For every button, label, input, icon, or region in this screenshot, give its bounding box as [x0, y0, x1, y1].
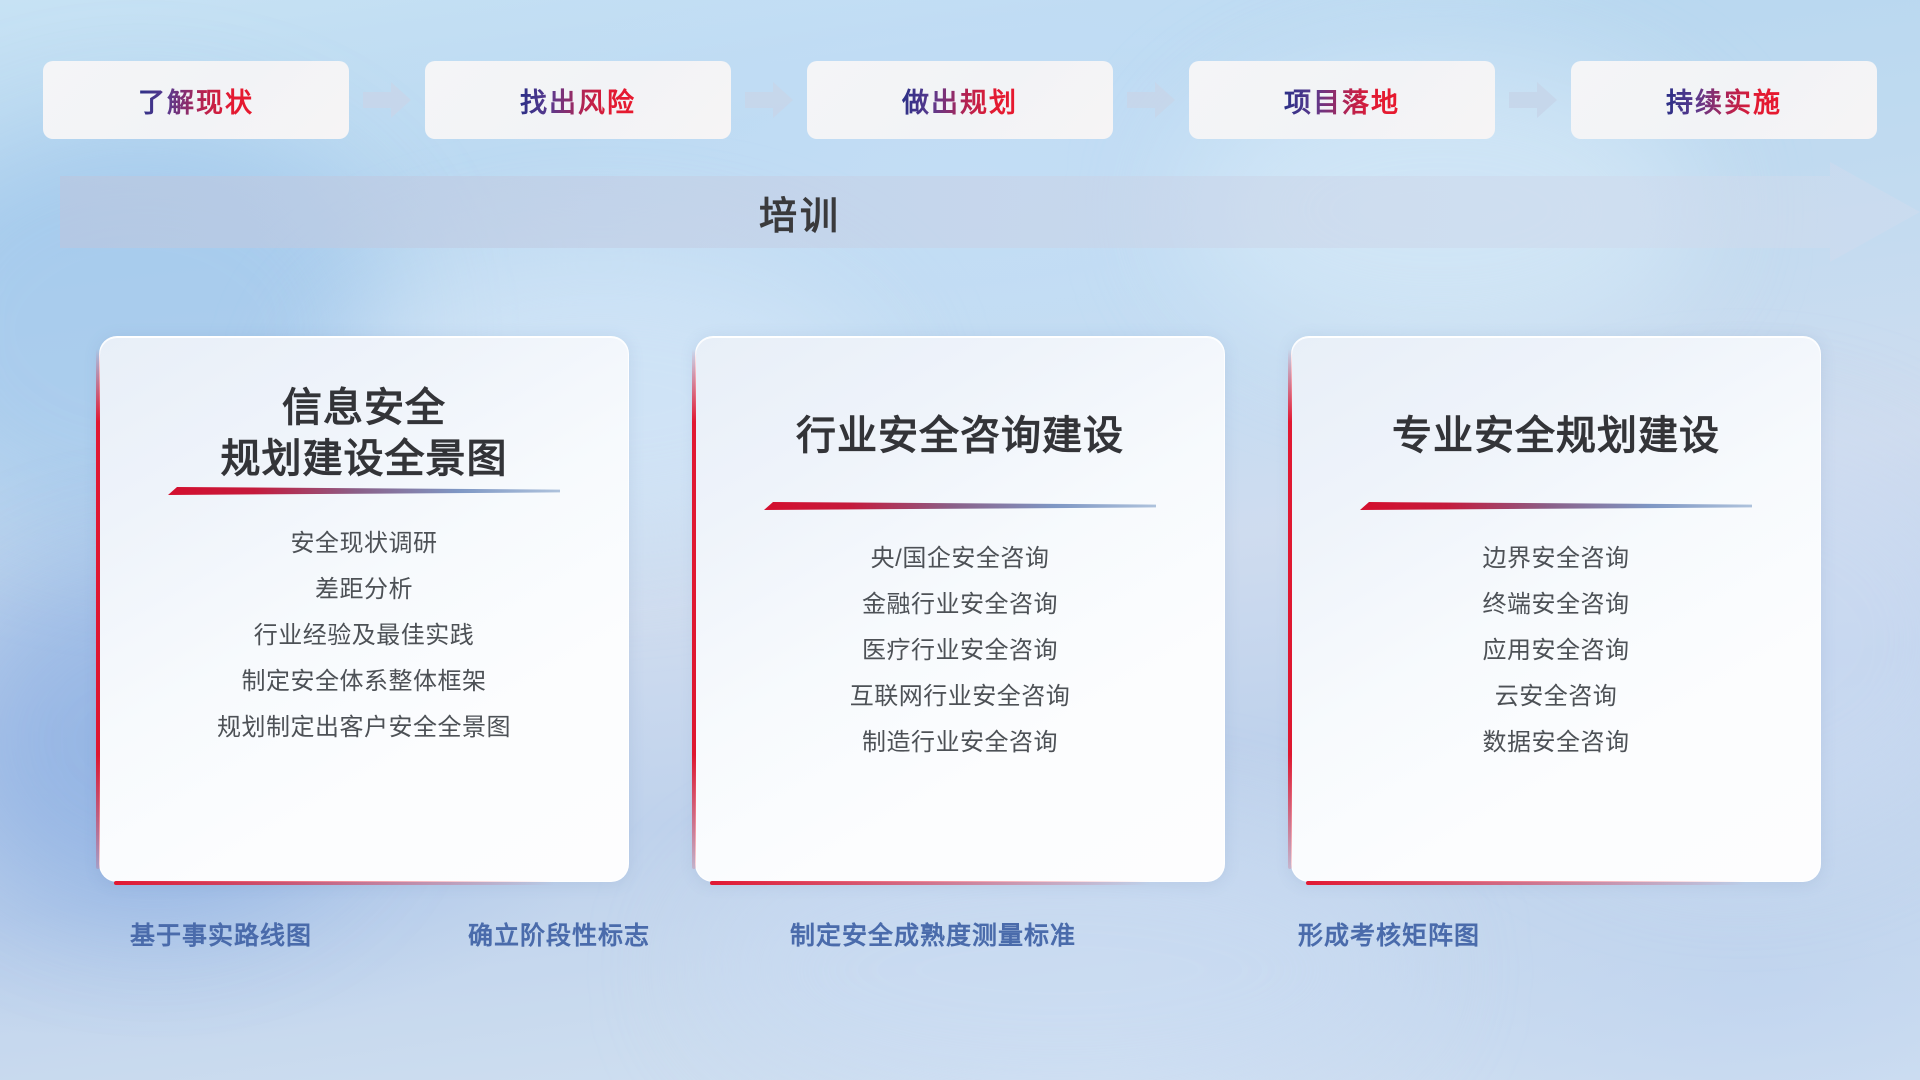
process-step-label: 找出风险	[520, 81, 636, 120]
list-item: 央/国企安全咨询	[696, 536, 1224, 582]
footer-label: 形成考核矩阵图	[1298, 916, 1480, 952]
training-banner: 培训	[60, 162, 1920, 262]
list-item: 云安全咨询	[1292, 674, 1820, 720]
process-step-row: 了解现状 找出风险 做出规划 项目落地	[0, 60, 1920, 140]
process-step-label: 持续实施	[1666, 81, 1782, 120]
process-step-4[interactable]: 项目落地	[1189, 61, 1495, 139]
card-industry-security-consulting[interactable]: 行业安全咨询建设 央/国企安全咨询	[695, 336, 1225, 882]
list-item: 安全现状调研	[100, 521, 628, 567]
footer-label: 基于事实路线图	[130, 916, 312, 952]
card-item-list: 安全现状调研 差距分析 行业经验及最佳实践 制定安全体系整体框架 规划制定出客户…	[100, 521, 628, 751]
card-title: 专业安全规划建设	[1292, 383, 1820, 462]
list-item: 差距分析	[100, 567, 628, 613]
card-title: 行业安全咨询建设	[696, 383, 1224, 462]
list-item: 数据安全咨询	[1292, 720, 1820, 766]
tapered-divider-icon	[1360, 500, 1752, 514]
card-information-security-blueprint[interactable]: 信息安全 规划建设全景图 安全现状调研	[99, 336, 629, 882]
arrow-right-icon	[743, 78, 795, 122]
arrow-right-icon	[361, 78, 413, 122]
list-item: 互联网行业安全咨询	[696, 674, 1224, 720]
tapered-divider-icon	[168, 485, 560, 499]
slide-canvas: 了解现状 找出风险 做出规划 项目落地	[0, 0, 1920, 1080]
list-item: 医疗行业安全咨询	[696, 628, 1224, 674]
process-step-1[interactable]: 了解现状	[43, 61, 349, 139]
list-item: 规划制定出客户安全全景图	[100, 705, 628, 751]
process-step-5[interactable]: 持续实施	[1571, 61, 1877, 139]
list-item: 金融行业安全咨询	[696, 582, 1224, 628]
card-item-list: 央/国企安全咨询 金融行业安全咨询 医疗行业安全咨询 互联网行业安全咨询 制造行…	[696, 536, 1224, 766]
tapered-divider-icon	[764, 500, 1156, 514]
card-professional-security-planning[interactable]: 专业安全规划建设 边界安全咨询	[1291, 336, 1821, 882]
list-item: 终端安全咨询	[1292, 582, 1820, 628]
footer-label: 制定安全成熟度测量标准	[790, 916, 1076, 952]
process-step-label: 做出规划	[902, 81, 1018, 120]
arrow-right-icon	[1125, 78, 1177, 122]
process-step-label: 了解现状	[138, 81, 254, 120]
card-title: 信息安全 规划建设全景图	[100, 383, 628, 485]
list-item: 行业经验及最佳实践	[100, 613, 628, 659]
card-row: 信息安全 规划建设全景图 安全现状调研	[0, 336, 1920, 882]
arrow-right-icon	[1507, 78, 1559, 122]
process-step-label: 项目落地	[1284, 81, 1400, 120]
card-item-list: 边界安全咨询 终端安全咨询 应用安全咨询 云安全咨询 数据安全咨询	[1292, 536, 1820, 766]
list-item: 制造行业安全咨询	[696, 720, 1224, 766]
list-item: 应用安全咨询	[1292, 628, 1820, 674]
process-step-2[interactable]: 找出风险	[425, 61, 731, 139]
process-step-3[interactable]: 做出规划	[807, 61, 1113, 139]
footer-label: 确立阶段性标志	[468, 916, 650, 952]
list-item: 边界安全咨询	[1292, 536, 1820, 582]
list-item: 制定安全体系整体框架	[100, 659, 628, 705]
footer-label-row: 基于事实路线图 确立阶段性标志 制定安全成熟度测量标准 形成考核矩阵图	[0, 916, 1920, 966]
training-banner-label: 培训	[60, 162, 1540, 262]
